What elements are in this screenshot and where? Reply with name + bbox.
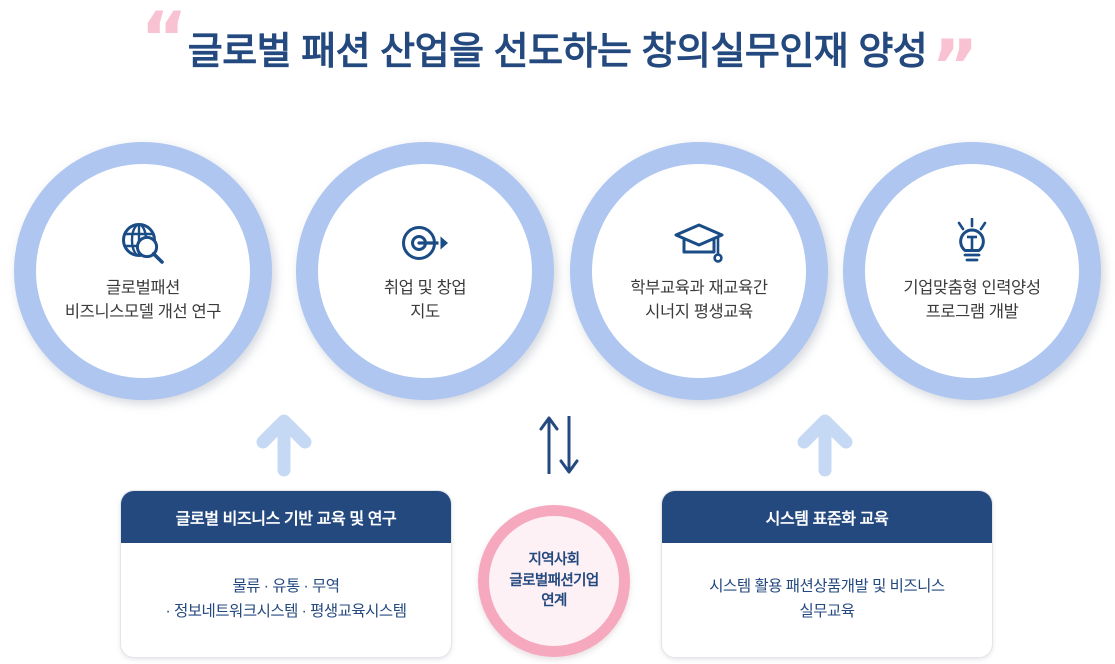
hub-circle[interactable]: 지역사회 글로벌패션기업 연계 — [478, 505, 630, 657]
title-text: 글로벌 패션 산업을 선도하는 창의실무인재 양성 — [188, 20, 928, 75]
info-box-left-header: 글로벌 비즈니스 기반 교육 및 연구 — [121, 491, 451, 543]
info-box-left[interactable]: 글로벌 비즈니스 기반 교육 및 연구 물류 · 유통 · 무역 · 정보네트워… — [120, 490, 452, 658]
info-box-right-body: 시스템 활용 패션상품개발 및 비즈니스 실무교육 — [662, 543, 992, 656]
infographic-canvas: “글로벌 패션 산업을 선도하는 창의실무인재 양성” 글로벌패션 비즈니스 — [0, 0, 1115, 664]
circle-item-1[interactable]: 글로벌패션 비즈니스모델 개선 연구 — [14, 142, 272, 400]
hub-label: 지역사회 글로벌패션기업 연계 — [489, 516, 619, 646]
open-quote-icon: “ — [140, 2, 183, 74]
info-box-right[interactable]: 시스템 표준화 교육 시스템 활용 패션상품개발 및 비즈니스 실무교육 — [661, 490, 993, 658]
lightbulb-icon — [950, 217, 994, 269]
globe-search-icon — [120, 217, 166, 269]
circle-item-4[interactable]: 기업맞춤형 인력양성 프로그램 개발 — [843, 142, 1101, 400]
circle-row: 글로벌패션 비즈니스모델 개선 연구 취업 및 창업 지도 — [0, 142, 1115, 402]
info-box-right-header: 시스템 표준화 교육 — [662, 491, 992, 543]
circle-label-4: 기업맞춤형 인력양성 프로그램 개발 — [903, 277, 1040, 325]
circle-item-2[interactable]: 취업 및 창업 지도 — [296, 142, 554, 400]
arrow-up-right — [797, 412, 853, 478]
arrow-up-down-center — [536, 412, 586, 478]
circle-label-2: 취업 및 창업 지도 — [384, 277, 466, 325]
arrow-up-left — [256, 412, 312, 478]
target-arrow-icon — [400, 217, 450, 269]
close-quote-icon: ” — [931, 30, 974, 102]
circle-item-3[interactable]: 학부교육과 재교육간 시너지 평생교육 — [570, 142, 828, 400]
circle-label-3: 학부교육과 재교육간 시너지 평생교육 — [630, 277, 767, 325]
info-box-left-body: 물류 · 유통 · 무역 · 정보네트워크시스템 · 평생교육시스템 — [121, 543, 451, 656]
page-title: “글로벌 패션 산업을 선도하는 창의실무인재 양성” — [0, 8, 1115, 80]
graduation-cap-icon — [673, 217, 725, 269]
circle-label-1: 글로벌패션 비즈니스모델 개선 연구 — [65, 277, 221, 325]
